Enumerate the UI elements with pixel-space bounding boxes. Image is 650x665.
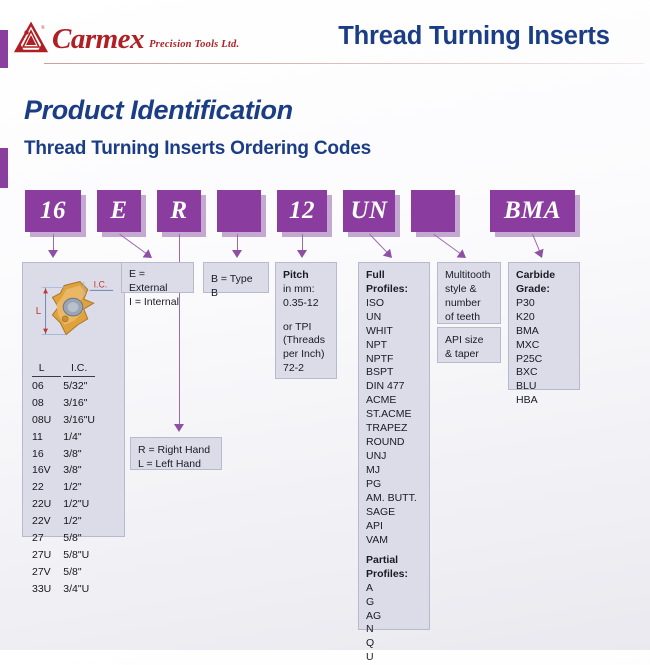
connector-line-3 <box>237 234 238 251</box>
size-cell-ic: 3/8" <box>63 463 95 478</box>
internal-line: I = Internal <box>129 296 186 310</box>
header-title: Thread Turning Inserts <box>306 22 642 51</box>
size-cell-ic: 5/8" <box>63 565 95 580</box>
list-item: P25C <box>516 353 572 367</box>
carbide-grade-panel: Carbide Grade: P30K20BMAMXCP25CBXCBLUHBA <box>508 262 580 390</box>
connector-arrowhead-7 <box>534 249 546 260</box>
multitooth-line-1: Multitooth <box>445 269 493 283</box>
list-item: BSPT <box>366 366 422 380</box>
list-item: N <box>366 623 422 637</box>
code-box-16[interactable]: 16 <box>25 190 81 232</box>
pitch-mm-range: 0.35-12 <box>283 297 329 311</box>
page-header: ® Carmex Precision Tools Ltd. Thread Tur… <box>0 0 650 72</box>
insert-type-panel: B = Type B <box>203 262 269 293</box>
page-title: Product Identification <box>24 95 293 126</box>
list-item: UNJ <box>366 450 422 464</box>
full-profiles-heading-2: Profiles: <box>366 283 422 297</box>
list-item: PG <box>366 478 422 492</box>
connector-arrowhead-3 <box>232 250 242 258</box>
list-item: MJ <box>366 464 422 478</box>
table-row: 27U5/8"U <box>32 548 95 563</box>
grade-list: P30K20BMAMXCP25CBXCBLUHBA <box>516 297 572 409</box>
size-cell-l: 22V <box>32 514 61 529</box>
header-divider <box>44 63 644 64</box>
size-table: LI.C.065/32"083/16"08U3/16"U111/4"163/8"… <box>30 359 97 599</box>
list-item: ISO <box>366 297 422 311</box>
size-cell-ic: 1/2" <box>63 514 95 529</box>
table-row: 275/8" <box>32 531 95 546</box>
size-cell-ic: 5/32" <box>63 379 95 394</box>
list-item: ST.ACME <box>366 408 422 422</box>
table-row: 065/32" <box>32 379 95 394</box>
external-line: E = External <box>129 268 186 296</box>
size-cell-l: 08U <box>32 413 61 428</box>
list-item: NPTF <box>366 353 422 367</box>
list-item: AM. BUTT. <box>366 492 422 506</box>
api-size-panel: API size & taper <box>437 327 501 363</box>
partial-profiles-heading-2: Profiles: <box>366 568 422 582</box>
size-cell-ic: 3/16"U <box>63 413 95 428</box>
list-item: BLU <box>516 380 572 394</box>
code-box-label: E <box>110 197 127 225</box>
size-cell-ic: 1/4" <box>63 430 95 445</box>
table-row: 221/2" <box>32 480 95 495</box>
table-row: 08U3/16"U <box>32 413 95 428</box>
multitooth-line-3: number <box>445 297 493 311</box>
carmex-triangle-logo-icon: ® <box>14 22 48 54</box>
accent-bar-section <box>0 148 8 188</box>
pitch-tpi-range: 72-2 <box>283 362 329 376</box>
list-item: MXC <box>516 339 572 353</box>
size-cell-ic: 5/8"U <box>63 548 95 563</box>
code-box-label: UN <box>350 197 387 225</box>
size-cell-l: 16 <box>32 447 61 462</box>
list-item: BMA <box>516 325 572 339</box>
connector-line-4 <box>302 234 303 251</box>
type-b-line: B = Type B <box>211 273 261 301</box>
size-cell-ic: 1/2"U <box>63 497 95 512</box>
size-cell-l: 27V <box>32 565 61 580</box>
table-row: 22V1/2" <box>32 514 95 529</box>
page-subtitle: Thread Turning Inserts Ordering Codes <box>24 138 371 160</box>
list-item: ACME <box>366 394 422 408</box>
list-item: TRAPEZ <box>366 422 422 436</box>
list-item: UN <box>366 311 422 325</box>
pitch-panel: Pitch in mm: 0.35-12 or TPI (Threads per… <box>275 262 337 379</box>
accent-bar-left <box>0 30 8 68</box>
multitooth-panel: Multitooth style & number of teeth <box>437 262 501 324</box>
api-size-line: API size <box>445 334 493 348</box>
insert-size-panel: L I.C. LI.C.065/32"083/16"08U3/16"U111/4… <box>22 262 125 537</box>
size-table-header-row: LI.C. <box>32 361 95 377</box>
code-box-un[interactable]: UN <box>343 190 395 232</box>
size-cell-ic: 3/4"U <box>63 582 95 597</box>
size-cell-l: 08 <box>32 396 61 411</box>
svg-text:L: L <box>36 306 42 317</box>
full-profiles-list: ISOUNWHITNPTNPTFBSPTDIN 477ACMEST.ACMETR… <box>366 297 422 548</box>
size-cell-ic: 3/8" <box>63 447 95 462</box>
code-box-label: R <box>170 197 187 225</box>
code-box-blank-6[interactable] <box>411 190 455 232</box>
size-table-header-cell: L <box>32 361 61 377</box>
code-box-blank-3[interactable] <box>217 190 261 232</box>
list-item: A <box>366 582 422 596</box>
pitch-tpi-note1: (Threads <box>283 334 329 348</box>
list-item: K20 <box>516 311 572 325</box>
list-item: SAGE <box>366 506 422 520</box>
partial-profiles-list: AGAGNQU <box>366 582 422 665</box>
connector-line-0 <box>53 234 54 251</box>
connector-arrowhead-0 <box>48 250 58 258</box>
code-box-label: 16 <box>40 197 66 225</box>
list-item: U <box>366 651 422 665</box>
list-item: VAM <box>366 534 422 548</box>
list-item: HBA <box>516 394 572 408</box>
svg-text:I.C.: I.C. <box>94 279 108 289</box>
list-item: BXC <box>516 366 572 380</box>
size-cell-ic: 3/16" <box>63 396 95 411</box>
size-cell-l: 33U <box>32 582 61 597</box>
list-item: DIN 477 <box>366 380 422 394</box>
list-item: G <box>366 596 422 610</box>
insert-diagram-icon: L I.C. <box>23 263 124 361</box>
code-box-label: BMA <box>504 197 561 225</box>
table-row: 083/16" <box>32 396 95 411</box>
size-cell-ic: 1/2" <box>63 480 95 495</box>
carmex-logo: ® Carmex Precision Tools Ltd. <box>14 22 239 54</box>
connector-arrowhead-4 <box>297 250 307 258</box>
size-cell-l: 06 <box>32 379 61 394</box>
code-box-label: 12 <box>289 197 315 225</box>
size-cell-ic: 5/8" <box>63 531 95 546</box>
size-cell-l: 11 <box>32 430 61 445</box>
size-cell-l: 22 <box>32 480 61 495</box>
pitch-mm-label: in mm: <box>283 283 329 297</box>
grade-heading-2: Grade: <box>516 283 572 297</box>
size-cell-l: 27U <box>32 548 61 563</box>
size-cell-l: 16V <box>32 463 61 478</box>
table-row: 163/8" <box>32 447 95 462</box>
size-cell-l: 27 <box>32 531 61 546</box>
svg-text:®: ® <box>41 25 45 31</box>
list-item: WHIT <box>366 325 422 339</box>
list-item: ROUND <box>366 436 422 450</box>
full-profiles-heading-1: Full <box>366 269 422 283</box>
logo-tagline: Precision Tools Ltd. <box>149 39 239 50</box>
connector-line-1 <box>119 233 147 254</box>
pitch-tpi-note2: per Inch) <box>283 348 329 362</box>
grade-heading-1: Carbide <box>516 269 572 283</box>
code-box-12[interactable]: 12 <box>277 190 327 232</box>
table-row: 33U3/4"U <box>32 582 95 597</box>
code-box-r[interactable]: R <box>157 190 201 232</box>
list-item: P30 <box>516 297 572 311</box>
code-box-e[interactable]: E <box>97 190 141 232</box>
list-item: NPT <box>366 339 422 353</box>
partial-profiles-heading-1: Partial <box>366 554 422 568</box>
external-internal-panel: E = External I = Internal <box>121 262 194 293</box>
table-row: 111/4" <box>32 430 95 445</box>
connector-arrowhead-2 <box>174 424 184 432</box>
right-hand-line: R = Right Hand <box>138 444 214 458</box>
table-row: 22U1/2"U <box>32 497 95 512</box>
size-table-header-cell: I.C. <box>63 361 95 377</box>
connector-line-6 <box>433 233 461 254</box>
code-box-bma[interactable]: BMA <box>490 190 575 232</box>
profiles-panel: Full Profiles: ISOUNWHITNPTNPTFBSPTDIN 4… <box>358 262 430 630</box>
multitooth-line-2: style & <box>445 283 493 297</box>
pitch-tpi-label: or TPI <box>283 321 329 335</box>
list-item: Q <box>366 637 422 651</box>
list-item: AG <box>366 610 422 624</box>
left-hand-line: L = Left Hand <box>138 458 214 472</box>
table-row: 16V3/8" <box>32 463 95 478</box>
api-taper-line: & taper <box>445 348 493 362</box>
pitch-heading: Pitch <box>283 269 329 283</box>
table-row: 27V5/8" <box>32 565 95 580</box>
logo-wordmark: Carmex <box>52 26 144 54</box>
connector-line-5 <box>369 234 388 254</box>
multitooth-line-4: of teeth <box>445 311 493 325</box>
hand-direction-panel: R = Right Hand L = Left Hand <box>130 437 222 470</box>
list-item: API <box>366 520 422 534</box>
size-cell-l: 22U <box>32 497 61 512</box>
